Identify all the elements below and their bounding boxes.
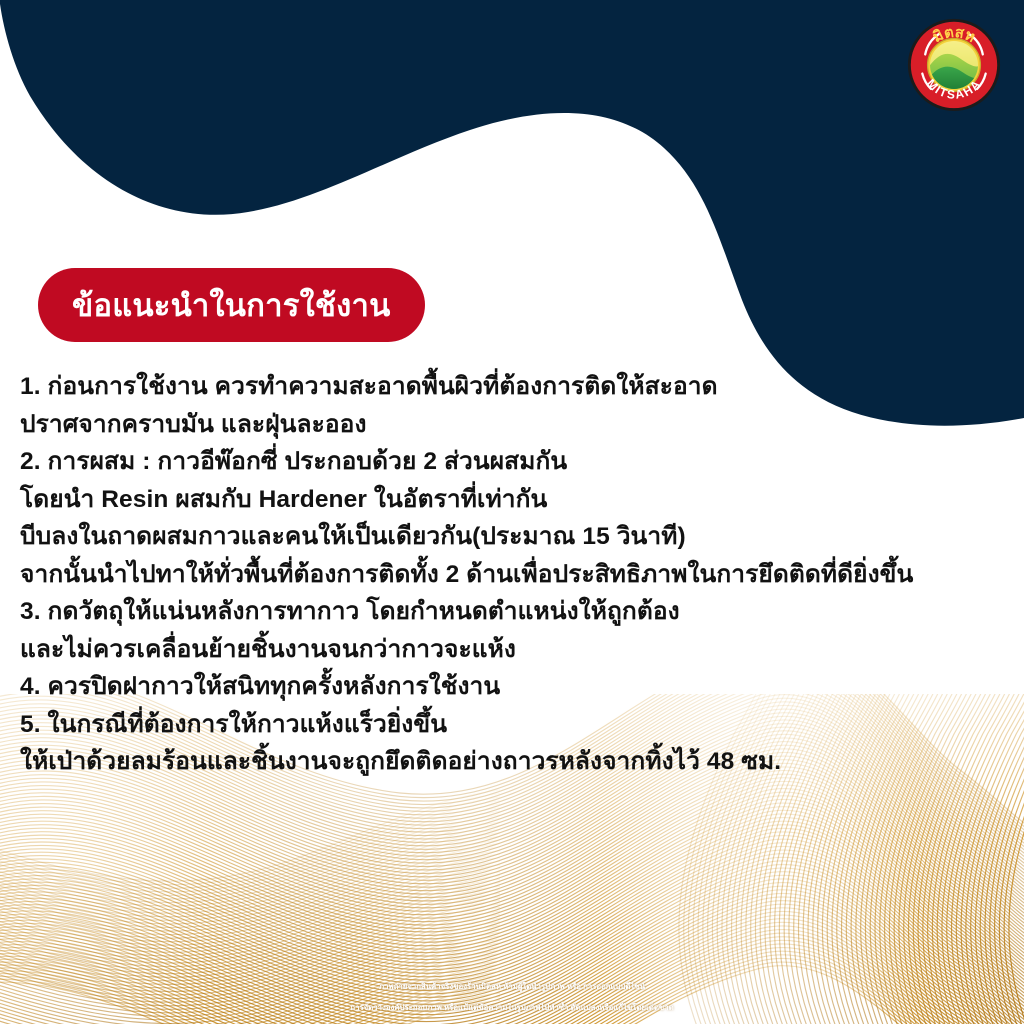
section-title-pill: ข้อแนะนำในการใช้งาน	[38, 268, 425, 342]
instruction-list: 1. ก่อนการใช้งาน ควรทำความสะอาดพื้นผิวที…	[20, 368, 1000, 781]
instruction-line: 1. ก่อนการใช้งาน ควรทำความสะอาดพื้นผิวที…	[20, 368, 1000, 406]
infographic-card: มิตสห MITSAHA ข้อแนะนำในการใช้งาน 1. ก่อ…	[0, 0, 1024, 1024]
instruction-line: โดยนำ Resin ผสมกับ Hardener ในอัตราที่เท…	[20, 481, 1000, 519]
page-title: ข้อแนะนำในการใช้งาน	[72, 290, 391, 321]
instruction-line: จากนั้นนำไปทาให้ทั่วพื้นที่ต้องการติดทั้…	[20, 556, 1000, 594]
instruction-line: 3. กดวัตถุให้แน่นหลังการทากาว โดยกำหนดตำ…	[20, 593, 1000, 631]
disclaimer-line: การจัดวางองค์ประกอบภาพ หรือแม้แต่ข้อความ…	[0, 997, 1024, 1018]
instruction-line: บีบลงในถาดผสมกาวและคนให้เป็นเดียวกัน(ประ…	[20, 518, 1000, 556]
instruction-line: และไม่ควรเคลื่อนย้ายชิ้นงานจนกว่ากาวจะแห…	[20, 631, 1000, 669]
instruction-line: ให้เป่าด้วยลมร้อนและชิ้นงานจะถูกยึดติดอย…	[20, 743, 1000, 781]
instruction-line: ปราศจากคราบมัน และฝุ่นละออง	[20, 406, 1000, 444]
mitsaha-logo: มิตสห MITSAHA	[906, 14, 1002, 114]
instruction-line: 4. ควรปิดฝากาวให้สนิททุกครั้งหลังการใช้ง…	[20, 668, 1000, 706]
instruction-line: 5. ในกรณีที่ต้องการให้กาวแห้งแร็วยิ่งขึ้…	[20, 706, 1000, 744]
instruction-line: 2. การผสม : กาวอีพ๊อกซี่ ประกอบด้วย 2 ส่…	[20, 443, 1000, 481]
disclaimer-line: ภาพถ่ายจากสินค้าจริงของร้านมิตสห ห้ามผู้…	[0, 976, 1024, 997]
footer-disclaimer: ภาพถ่ายจากสินค้าจริงของร้านมิตสห ห้ามผู้…	[0, 976, 1024, 1018]
